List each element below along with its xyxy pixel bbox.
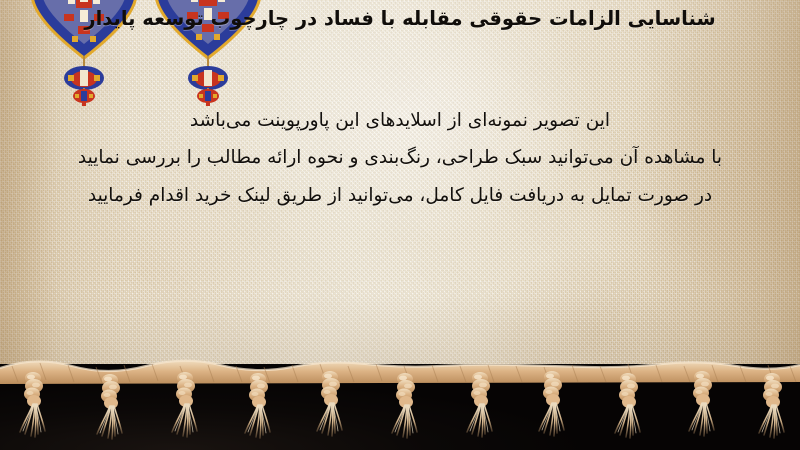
- body-line-3: در صورت تمایل به دریافت فایل کامل، می‌تو…: [28, 183, 772, 209]
- carpet-fringe-icon: [0, 352, 800, 450]
- body-line-2: با مشاهده آن می‌توانید سبک طراحی، رنگ‌بن…: [28, 145, 772, 171]
- fringe-tassel: [615, 373, 640, 438]
- fringe-tassel: [97, 374, 122, 439]
- slide-title: شناسایی الزامات حقوقی مقابله با فساد در …: [0, 4, 800, 34]
- presentation-slide: شناسایی الزامات حقوقی مقابله با فساد در …: [0, 0, 800, 450]
- body-line-1: این تصویر نمونه‌ای از اسلایدهای این پاور…: [28, 108, 772, 134]
- slide-body: این تصویر نمونه‌ای از اسلایدهای این پاور…: [0, 108, 800, 209]
- fringe-tassel: [759, 373, 784, 438]
